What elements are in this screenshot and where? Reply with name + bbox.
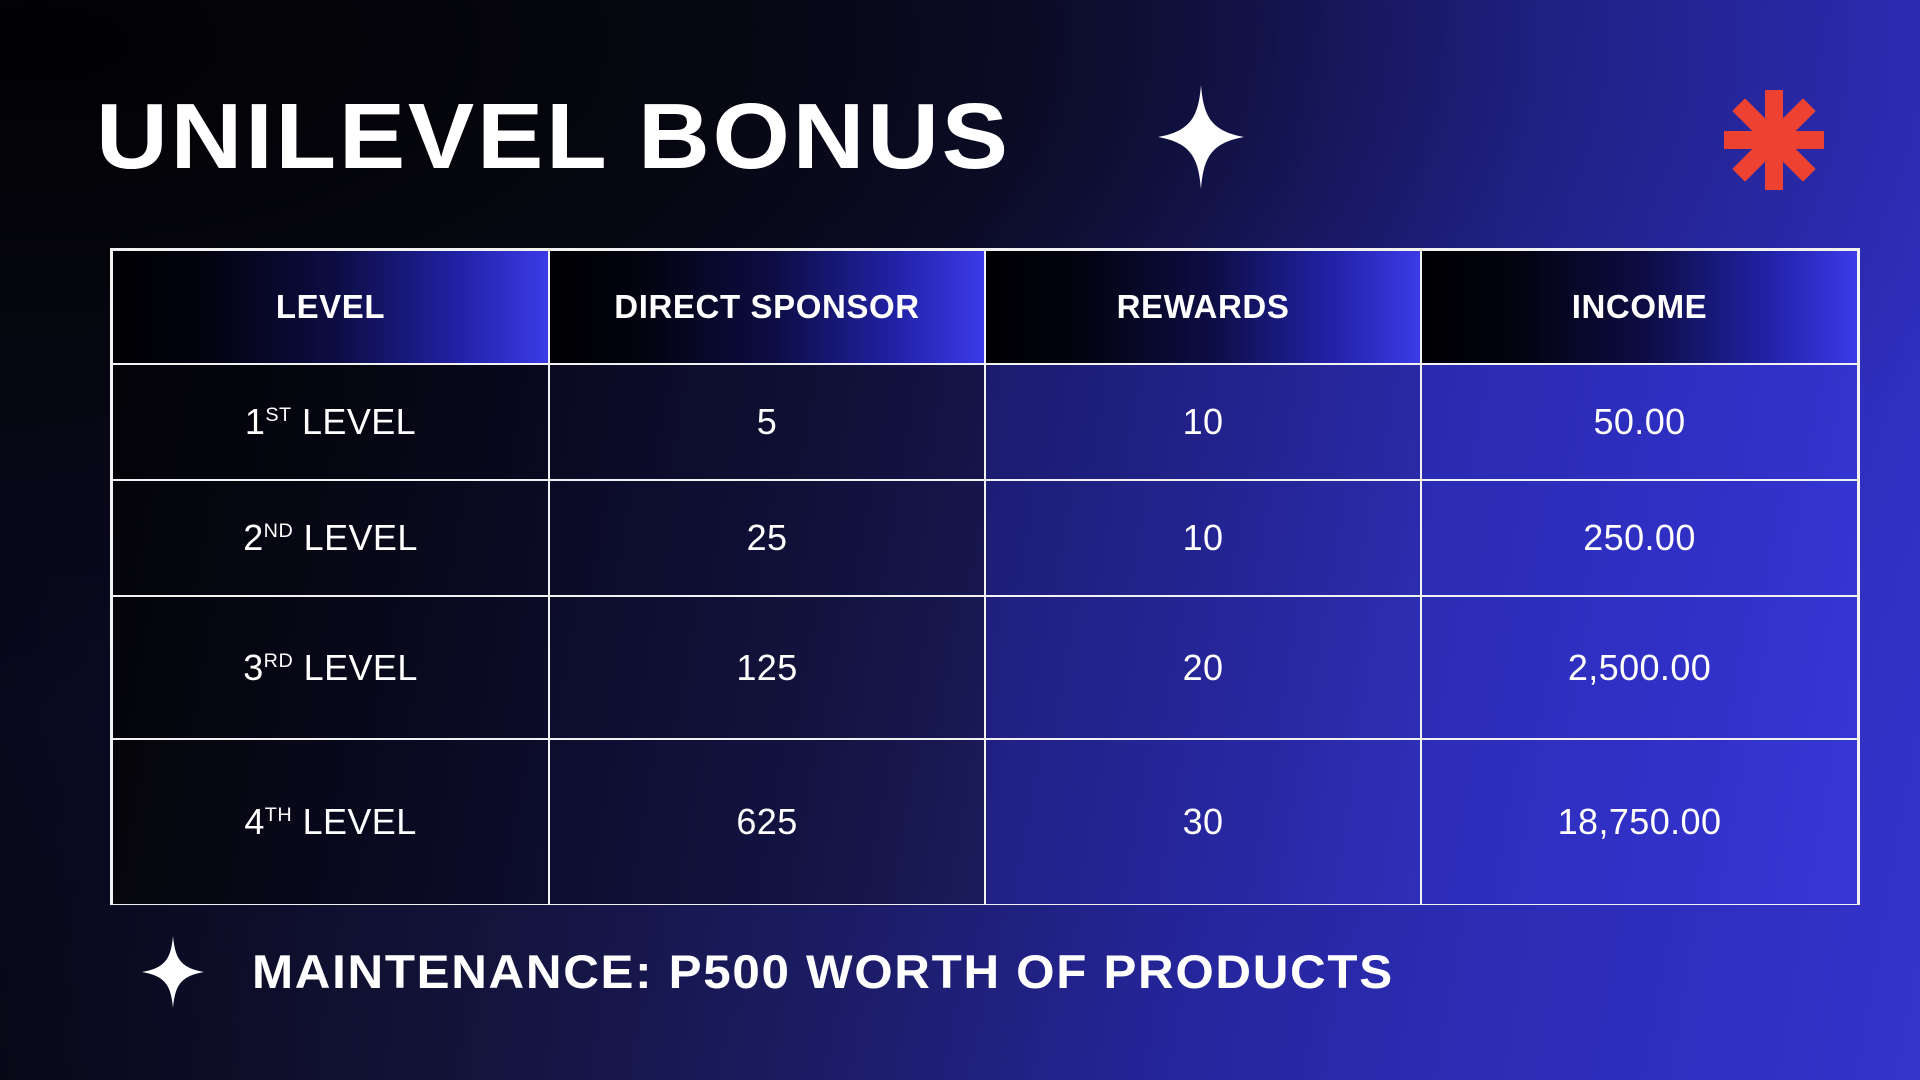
bonus-table: LEVEL DIRECT SPONSOR REWARDS INCOME 1ST … [113, 251, 1857, 904]
table-row: 2ND LEVEL 25 10 250.00 [113, 480, 1857, 596]
level-number: 3 [243, 647, 263, 688]
level-number: 1 [245, 401, 265, 442]
maintenance-note: MAINTENANCE: P500 WORTH OF PRODUCTS [252, 938, 1394, 1006]
four-point-sparkle-icon [1158, 85, 1244, 189]
cell-direct-sponsor: 5 [549, 364, 985, 480]
cell-income: 2,500.00 [1421, 596, 1857, 739]
cell-rewards: 10 [985, 480, 1421, 596]
column-header-income: INCOME [1421, 251, 1857, 364]
cell-income: 250.00 [1421, 480, 1857, 596]
cell-direct-sponsor: 25 [549, 480, 985, 596]
level-suffix: LEVEL [303, 801, 417, 842]
column-header-rewards: REWARDS [985, 251, 1421, 364]
cell-level: 2ND LEVEL [113, 480, 549, 596]
level-suffix: LEVEL [304, 517, 418, 558]
table-row: 3RD LEVEL 125 20 2,500.00 [113, 596, 1857, 739]
cell-direct-sponsor: 625 [549, 739, 985, 904]
level-number: 2 [243, 517, 263, 558]
column-header-direct-sponsor: DIRECT SPONSOR [549, 251, 985, 364]
table-header-row: LEVEL DIRECT SPONSOR REWARDS INCOME [113, 251, 1857, 364]
level-ordinal: RD [264, 650, 294, 672]
cell-rewards: 20 [985, 596, 1421, 739]
cell-level: 3RD LEVEL [113, 596, 549, 739]
table-header: LEVEL DIRECT SPONSOR REWARDS INCOME [113, 251, 1857, 364]
cell-level: 4TH LEVEL [113, 739, 549, 904]
cell-level: 1ST LEVEL [113, 364, 549, 480]
red-asterisk-icon [1720, 86, 1828, 194]
level-suffix: LEVEL [302, 401, 416, 442]
cell-income: 18,750.00 [1421, 739, 1857, 904]
level-ordinal: TH [265, 804, 292, 826]
cell-rewards: 10 [985, 364, 1421, 480]
table-row: 4TH LEVEL 625 30 18,750.00 [113, 739, 1857, 904]
slide-canvas: UNILEVEL BONUS LEVEL DIRECT SPONSOR REWA… [0, 0, 1920, 1080]
cell-income: 50.00 [1421, 364, 1857, 480]
cell-direct-sponsor: 125 [549, 596, 985, 739]
level-ordinal: ST [265, 404, 291, 426]
title-row: UNILEVEL BONUS [96, 78, 1856, 194]
level-number: 4 [244, 801, 264, 842]
page-title: UNILEVEL BONUS [96, 78, 1011, 194]
column-header-level: LEVEL [113, 251, 549, 364]
level-ordinal: ND [264, 520, 294, 542]
table-row: 1ST LEVEL 5 10 50.00 [113, 364, 1857, 480]
bonus-table-container: LEVEL DIRECT SPONSOR REWARDS INCOME 1ST … [110, 248, 1860, 905]
four-point-sparkle-icon [142, 936, 204, 1008]
table-body: 1ST LEVEL 5 10 50.00 2ND LEVEL 25 10 250… [113, 364, 1857, 904]
cell-rewards: 30 [985, 739, 1421, 904]
level-suffix: LEVEL [304, 647, 418, 688]
